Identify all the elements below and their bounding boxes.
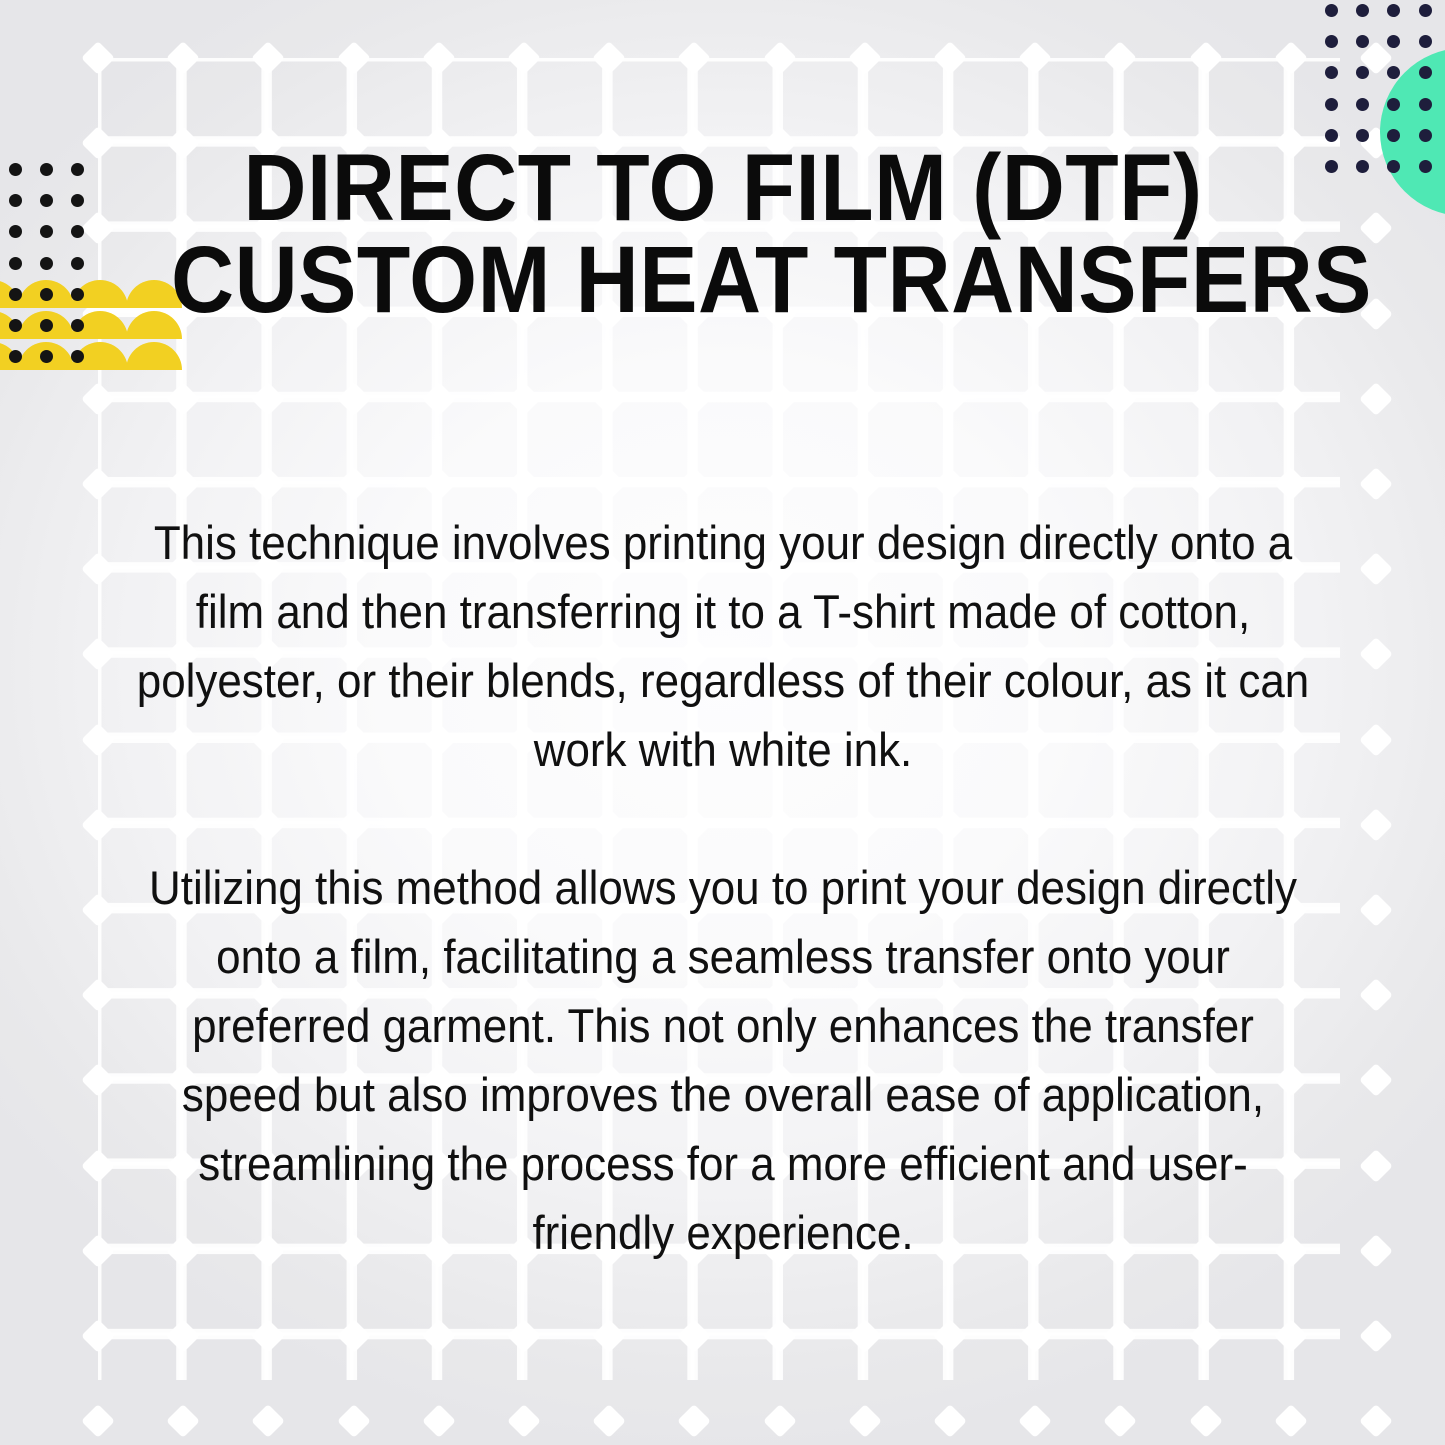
- body-paragraph-1: This technique involves printing your de…: [129, 508, 1316, 784]
- poster-content: DIRECT TO FILM (DTF) CUSTOM HEAT TRANSFE…: [0, 0, 1445, 1445]
- poster-canvas: DIRECT TO FILM (DTF) CUSTOM HEAT TRANSFE…: [0, 0, 1445, 1445]
- title-line-1: DIRECT TO FILM (DTF): [171, 142, 1275, 234]
- body-paragraph-2: Utilizing this method allows you to prin…: [129, 853, 1316, 1267]
- body-text: This technique involves printing your de…: [129, 508, 1316, 1267]
- page-title: DIRECT TO FILM (DTF) CUSTOM HEAT TRANSFE…: [171, 142, 1275, 326]
- title-line-2: CUSTOM HEAT TRANSFERS: [171, 234, 1275, 326]
